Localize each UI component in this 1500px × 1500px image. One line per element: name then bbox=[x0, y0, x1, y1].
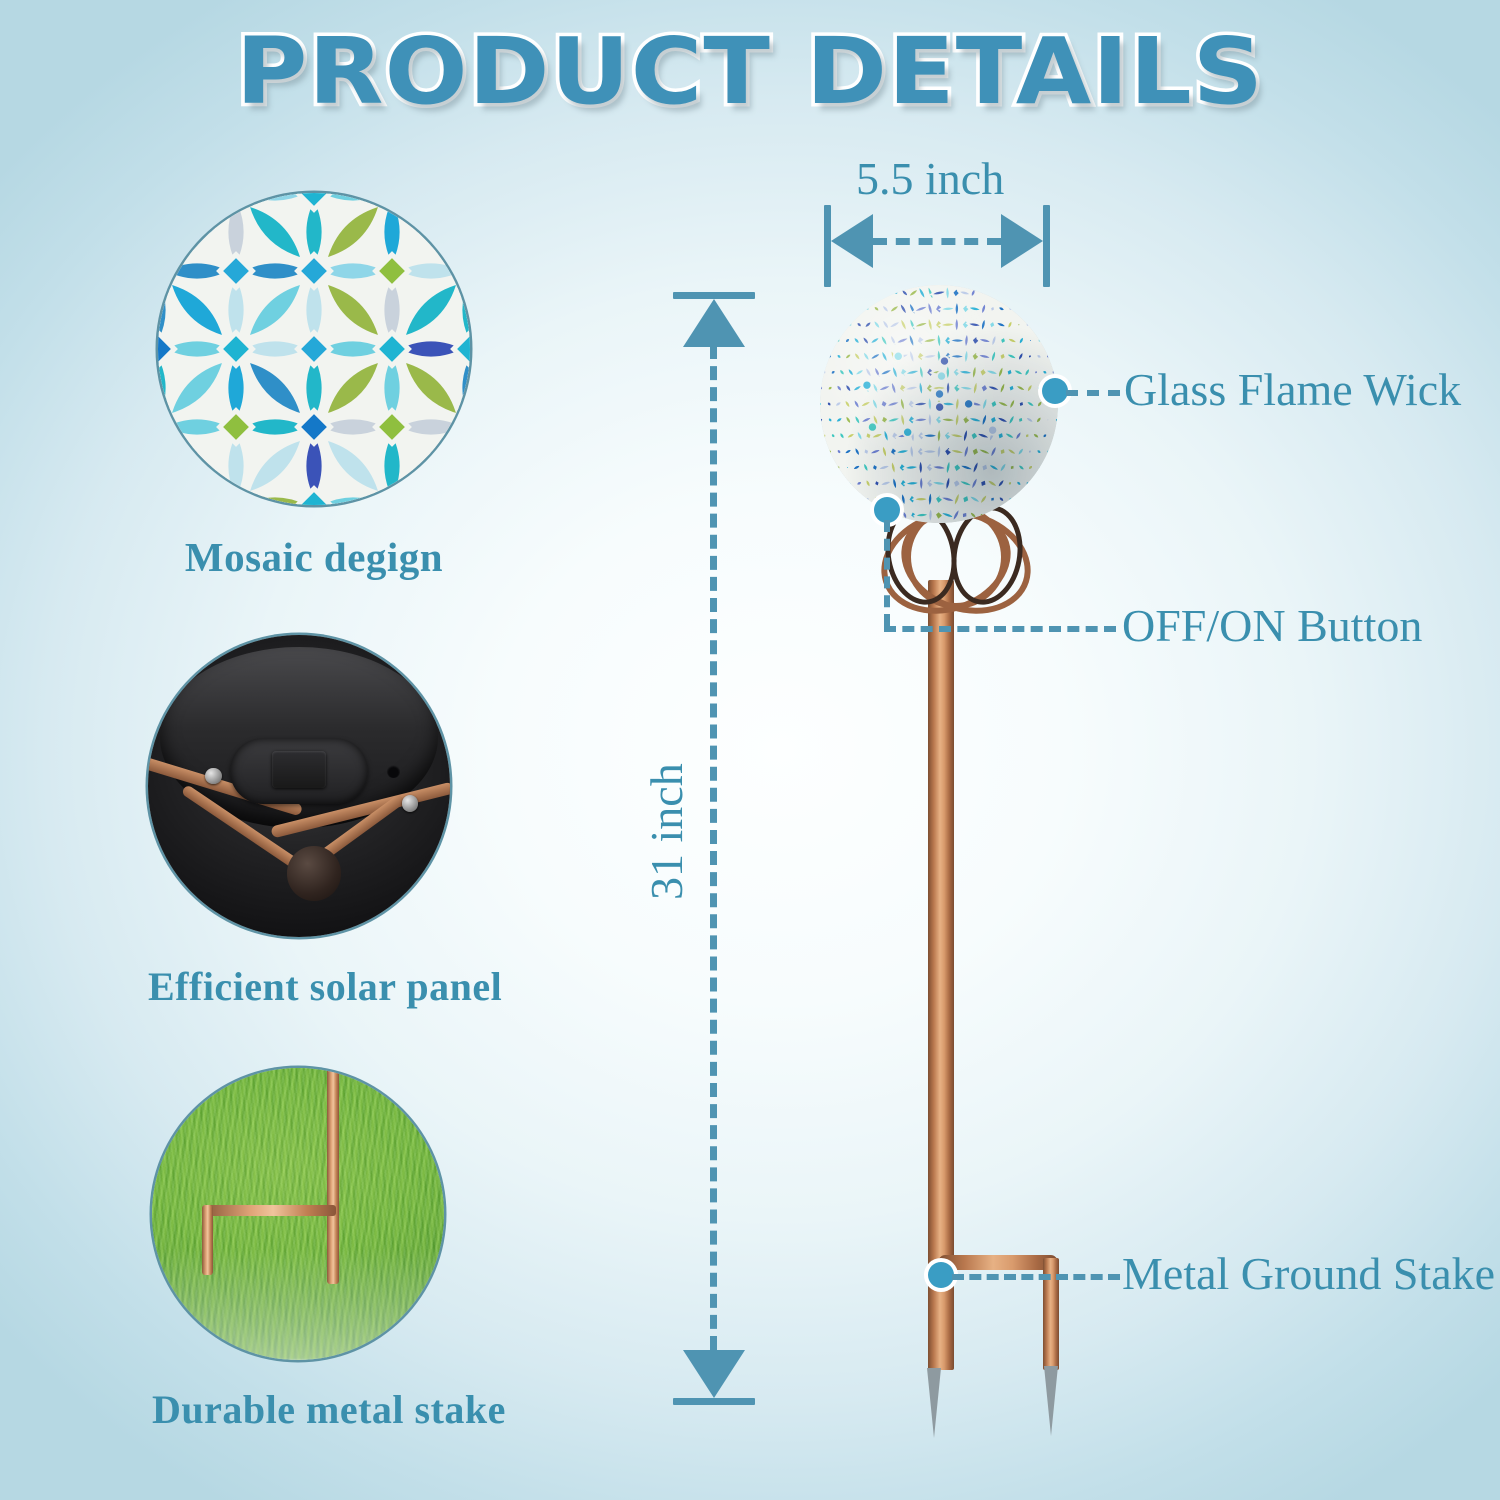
callout-label-glass-flame-wick: Glass Flame Wick bbox=[1124, 363, 1461, 416]
callout-label-off-on-button: OFF/ON Button bbox=[1122, 599, 1422, 652]
grass-stake-icon bbox=[152, 1068, 444, 1360]
callout-leader-metal-ground-stake bbox=[952, 1274, 1120, 1280]
solar-panel-icon bbox=[148, 635, 450, 937]
stake-tip-left bbox=[927, 1368, 941, 1438]
dimension-width-label: 5.5 inch bbox=[856, 152, 1004, 205]
stake-main-rod bbox=[928, 580, 954, 1370]
dimension-height-bottom-extension bbox=[673, 1398, 755, 1405]
callout-leader-glass-flame-wick bbox=[1066, 390, 1120, 396]
mosaic-glass-globe bbox=[820, 285, 1058, 523]
page-title-wrap: PRODUCT DETAILS bbox=[0, 18, 1500, 125]
dimension-width-arrow-right bbox=[1001, 214, 1043, 268]
infographic-canvas: PRODUCT DETAILS Mosaic degign Ef bbox=[0, 0, 1500, 1500]
stake-crossbar bbox=[938, 1255, 1058, 1270]
dimension-width-line bbox=[873, 238, 1001, 245]
dimension-width-left-extension bbox=[824, 205, 831, 287]
callout-leader-horizontal-off-on-button bbox=[884, 626, 1116, 632]
dimension-width-right-extension bbox=[1043, 205, 1050, 287]
dimension-height-label: 31 inch bbox=[640, 763, 693, 900]
feature-solar-panel: Efficient solar panel bbox=[148, 635, 450, 1010]
callout-label-metal-ground-stake: Metal Ground Stake bbox=[1122, 1247, 1495, 1300]
feature-label-solar-panel: Efficient solar panel bbox=[148, 963, 450, 1010]
callout-dot-metal-ground-stake bbox=[928, 1262, 954, 1288]
dimension-height-top-extension bbox=[673, 292, 755, 299]
feature-metal-stake: Durable metal stake bbox=[152, 1068, 444, 1433]
dimension-width-arrow-left bbox=[831, 214, 873, 268]
dimension-height-line bbox=[710, 345, 717, 1350]
dimension-height-arrow-up bbox=[683, 299, 745, 347]
stake-tip-right bbox=[1044, 1366, 1058, 1436]
callout-leader-vertical-off-on-button bbox=[884, 520, 890, 626]
page-title: PRODUCT DETAILS bbox=[236, 18, 1264, 125]
dimension-height-arrow-down bbox=[683, 1350, 745, 1398]
callout-dot-glass-flame-wick bbox=[1042, 378, 1068, 404]
mosaic-tile-icon bbox=[158, 193, 470, 505]
feature-mosaic-design: Mosaic degign bbox=[158, 193, 470, 581]
feature-label-mosaic-design: Mosaic degign bbox=[158, 533, 470, 581]
feature-label-metal-stake: Durable metal stake bbox=[152, 1386, 444, 1433]
